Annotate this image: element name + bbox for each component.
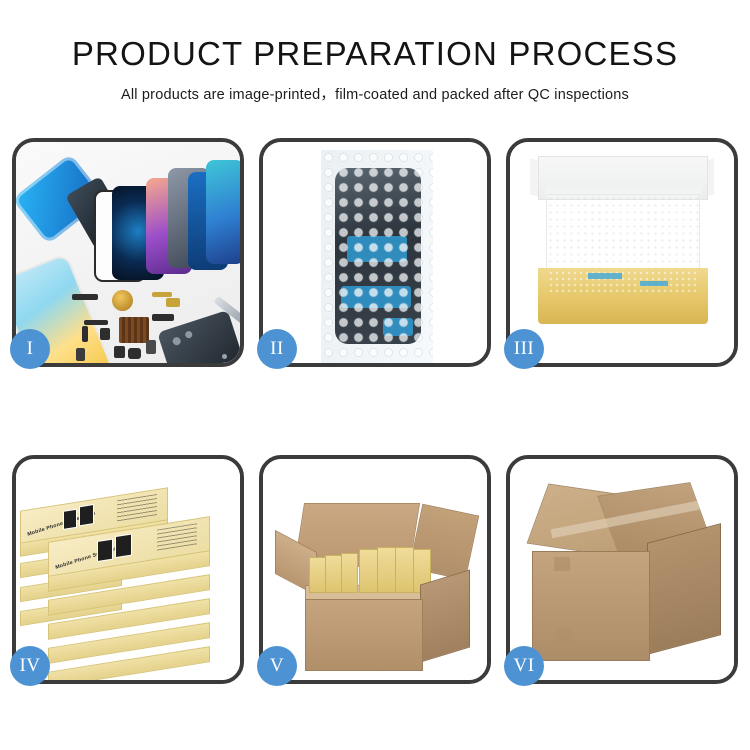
step-panel-1: I [12,138,244,367]
step-badge-6: VI [504,646,544,686]
housing-lens-1 [172,336,182,346]
kraft-tray-front [538,294,708,324]
inner-box-5 [377,547,396,593]
step-panel-4: Mobile Phone Spare Parts Mobile Phone Sp… [12,455,244,684]
step-3-image [510,142,734,363]
step-badge-3: III [504,329,544,369]
inner-box-6 [395,547,414,593]
box-art-screen-1 [63,509,77,530]
item-blue-film-2 [640,281,668,286]
header: PRODUCT PREPARATION PROCESS All products… [0,0,750,104]
inner-box-4 [359,549,378,593]
wrapped-items-in-tray [548,270,698,294]
carton-side-front [305,599,423,671]
step-2-image [263,142,487,363]
page-title: PRODUCT PREPARATION PROCESS [0,36,750,72]
part-speaker-mesh [72,294,98,300]
foam-padding-sheet [546,194,700,274]
part-taptic [146,340,156,354]
carton-face-front [532,551,650,661]
inner-box-2 [325,555,342,593]
page-subtitle: All products are image-printed，film-coat… [0,83,750,104]
step-panel-3: III [506,138,738,367]
inner-box-1 [309,557,326,593]
step-badge-4: IV [10,646,50,686]
step-panel-5: V [259,455,491,684]
box-art-screen-3 [97,539,113,563]
steps-grid: I II [12,138,738,694]
step-panel-2: II [259,138,491,367]
step-badge-5: V [257,646,297,686]
step-1-image [16,142,240,363]
step-panel-6: VI [506,455,738,684]
part-flex-cable-2 [84,320,108,325]
product-preparation-infographic: PRODUCT PREPARATION PROCESS All products… [0,0,750,750]
carton-handle-tab-bottom [556,629,572,643]
part-chip-array [119,317,149,343]
part-gold-coil [112,290,133,311]
phone-teal [206,160,240,264]
part-flex-cable-1 [152,292,172,297]
part-connector-1 [166,298,180,307]
bubble-outline-texture [321,150,433,363]
part-bracket-1 [82,326,88,342]
step-5-image [263,459,487,680]
step-4-image: Mobile Phone Spare Parts Mobile Phone Sp… [16,459,240,680]
part-button-1 [76,348,85,361]
carton-face-right [647,523,721,655]
item-blue-film-1 [588,273,622,279]
box-spec-lines-back [117,494,157,522]
box-spec-lines-front [157,523,197,551]
part-bracket-2 [100,328,110,340]
part-screw-2 [230,362,235,363]
carton-side-right [420,569,470,662]
box-art-screen-2 [79,504,94,526]
step-6-image [510,459,734,680]
part-flex-cable-3 [152,314,174,321]
carton-handle-tab-top [554,557,570,571]
housing-lens-2 [184,330,193,339]
box-art-screen-4 [115,534,132,559]
part-camera-module [114,346,125,358]
part-vibrator [128,348,141,359]
step-badge-1: I [10,329,50,369]
step-badge-2: II [257,329,297,369]
part-screw-1 [222,354,227,359]
inner-box-3 [341,553,358,593]
